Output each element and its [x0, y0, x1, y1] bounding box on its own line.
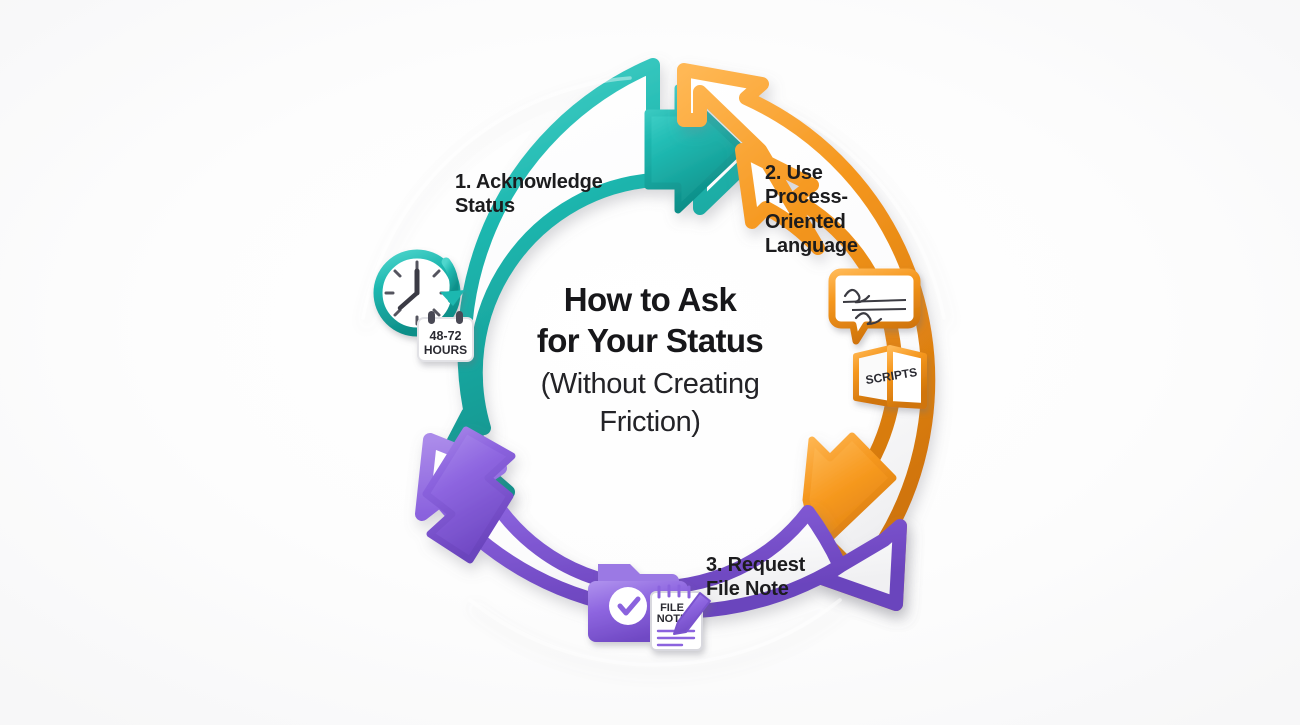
step-label-process-oriented-language: 2. Use Process- Oriented Language — [765, 161, 905, 259]
scripts-book: SCRIPTS — [856, 348, 924, 406]
badge-ring-left — [428, 311, 435, 324]
center-title: How to Ask for Your Status (Without Crea… — [470, 280, 830, 441]
center-title-main: How to Ask for Your Status — [470, 280, 830, 362]
step-label-request-file-note: 3. Request File Note — [706, 553, 876, 602]
handwriting-rule-2 — [852, 309, 906, 310]
clock-calendar-icon: 48-72 HOURS — [378, 254, 473, 361]
file-note-pad: FILE NOTE — [651, 586, 710, 650]
check-badge-circle — [609, 587, 647, 625]
badge-line-1: 48-72 — [430, 329, 462, 343]
center-title-subtitle: (Without Creating Friction) — [470, 366, 830, 441]
diagram-canvas: 48-72 HOURS SCRIPTS — [0, 0, 1300, 725]
step-label-acknowledge-status: 1. Acknowledge Status — [455, 170, 625, 219]
duration-badge: 48-72 HOURS — [418, 311, 473, 361]
badge-ring-right — [456, 311, 463, 324]
badge-line-2: HOURS — [424, 343, 467, 357]
